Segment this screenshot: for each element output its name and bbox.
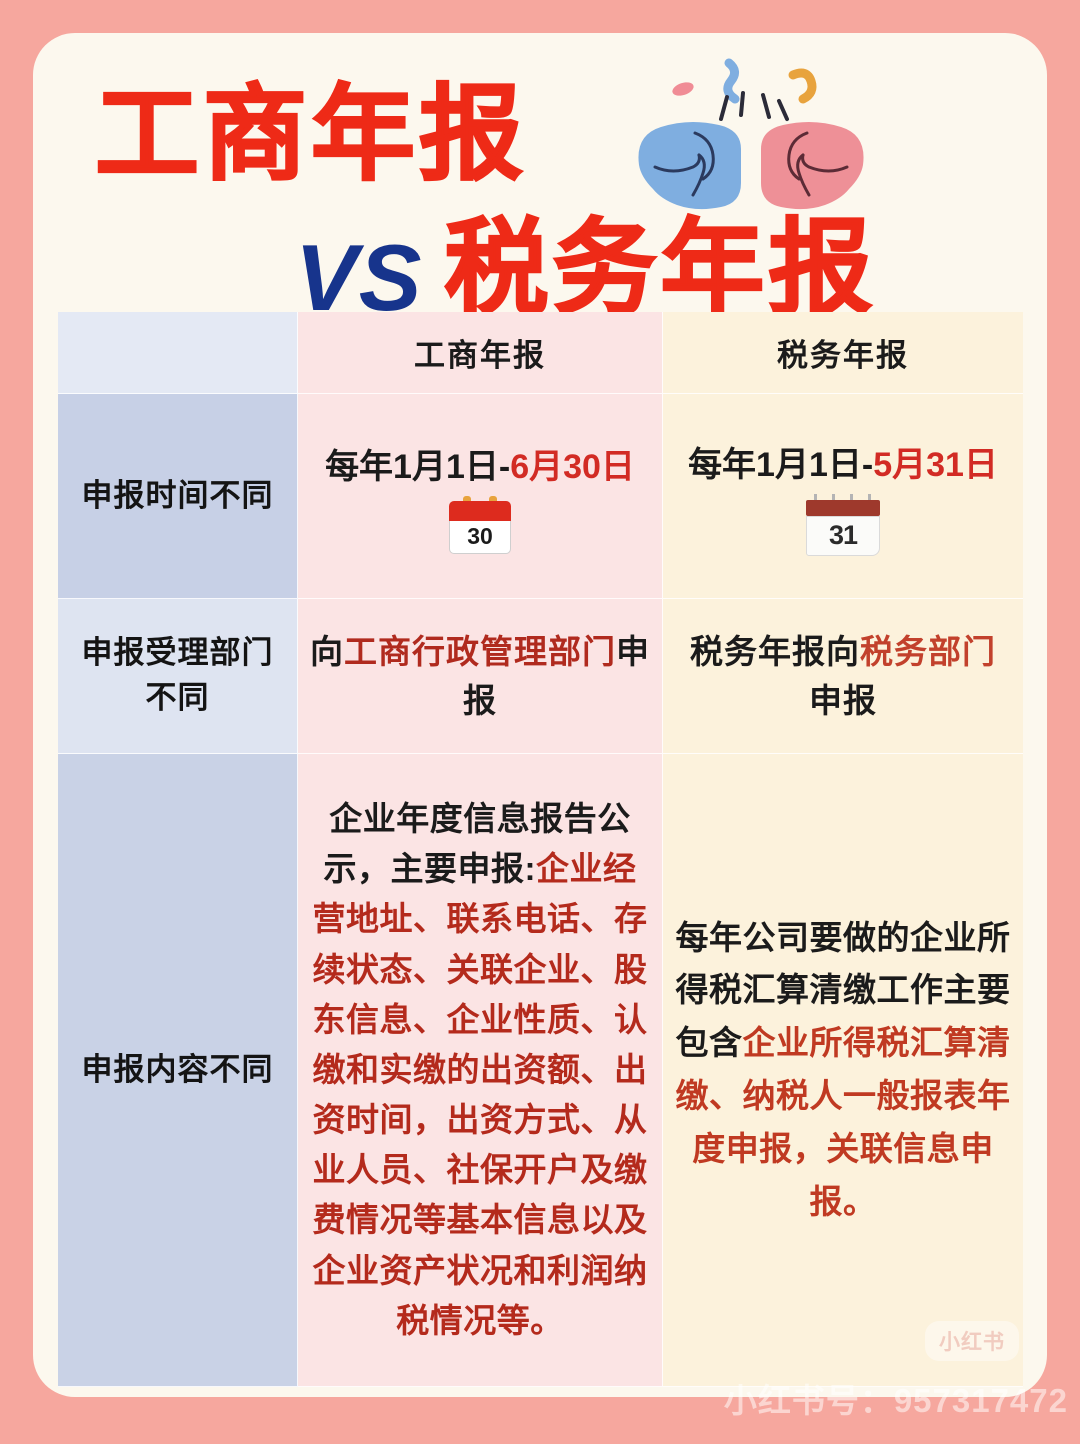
- dept-gongshang-highlight: 工商行政管理部门: [344, 633, 616, 670]
- calendar-day-number: 31: [806, 516, 880, 556]
- content-gongshang-text: 企业年度信息报告公示，主要申报:企业经营地址、联系电话、存续状态、关联企业、股东…: [310, 794, 650, 1346]
- filing-time-shuiwu-highlight: 5月31日: [873, 446, 998, 484]
- calendar-day-number: 30: [449, 521, 511, 554]
- xiaohongshu-badge: 小红书: [925, 1321, 1019, 1361]
- dept-shuiwu-pre: 税务年报向: [690, 633, 860, 670]
- cell-filing-time-gongshang: 每年1月1日-6月30日 30: [298, 394, 663, 599]
- xiaohongshu-id-watermark: 小红书号：957317472: [724, 1374, 1068, 1422]
- dept-gongshang-text: 向工商行政管理部门申报: [310, 627, 650, 726]
- filing-time-shuiwu-text: 每年1月1日-5月31日: [688, 437, 998, 486]
- content-gongshang-highlight: 企业经营地址、联系电话、存续状态、关联企业、股东信息、企业性质、认缴和实缴的出资…: [313, 850, 648, 1338]
- dept-shuiwu-highlight: 税务部门: [860, 633, 996, 670]
- infographic-card: 工商年报 VS税务年报: [33, 33, 1047, 1397]
- cell-content-gongshang: 企业年度信息报告公示，主要申报:企业经营地址、联系电话、存续状态、关联企业、股东…: [298, 754, 663, 1387]
- fist-bump-icon: [621, 57, 881, 247]
- table-header-gongshang: 工商年报: [298, 312, 663, 394]
- filing-time-shuiwu-plain: 每年1月1日-: [688, 446, 873, 484]
- title-area: 工商年报 VS税务年报: [33, 33, 1047, 311]
- row-label-text: 申报时间不同: [82, 474, 274, 519]
- cell-dept-gongshang: 向工商行政管理部门申报: [298, 599, 663, 754]
- row-label-text: 申报内容不同: [82, 1048, 274, 1093]
- cell-dept-shuiwu: 税务年报向税务部门申报: [663, 599, 1023, 754]
- calendar-icon: 31: [804, 494, 882, 556]
- table-header-shuiwu: 税务年报: [663, 312, 1023, 394]
- filing-time-gongshang-highlight: 6月30日: [510, 448, 635, 486]
- table-corner-cell: [58, 312, 298, 394]
- row-label-accepting-dept: 申报受理部门不同: [58, 599, 298, 754]
- row-label-filing-time: 申报时间不同: [58, 394, 298, 599]
- dept-gongshang-pre: 向: [310, 633, 344, 670]
- filing-time-gongshang-plain: 每年1月1日-: [325, 448, 510, 486]
- calendar-icon: 30: [449, 496, 511, 554]
- cell-filing-time-shuiwu: 每年1月1日-5月31日 31: [663, 394, 1023, 599]
- dept-shuiwu-post: 申报: [809, 682, 877, 719]
- dept-shuiwu-text: 税务年报向税务部门申报: [675, 627, 1011, 726]
- row-label-filing-content: 申报内容不同: [58, 754, 298, 1387]
- filing-time-gongshang-text: 每年1月1日-6月30日: [325, 439, 635, 488]
- content-shuiwu-text: 每年公司要做的企业所得税汇算清缴工作主要包含企业所得税汇算清缴、纳税人一般报表年…: [675, 912, 1011, 1229]
- comparison-table: 工商年报 税务年报 申报时间不同 每年1月1日-6月30日 30 每年1月1日-…: [58, 312, 1023, 1387]
- cell-content-shuiwu: 每年公司要做的企业所得税汇算清缴工作主要包含企业所得税汇算清缴、纳税人一般报表年…: [663, 754, 1023, 1387]
- title-line-1: 工商年报: [95, 81, 527, 190]
- header-label-gongshang: 工商年报: [414, 330, 546, 375]
- header-label-shuiwu: 税务年报: [777, 330, 909, 375]
- row-label-text: 申报受理部门不同: [70, 631, 285, 721]
